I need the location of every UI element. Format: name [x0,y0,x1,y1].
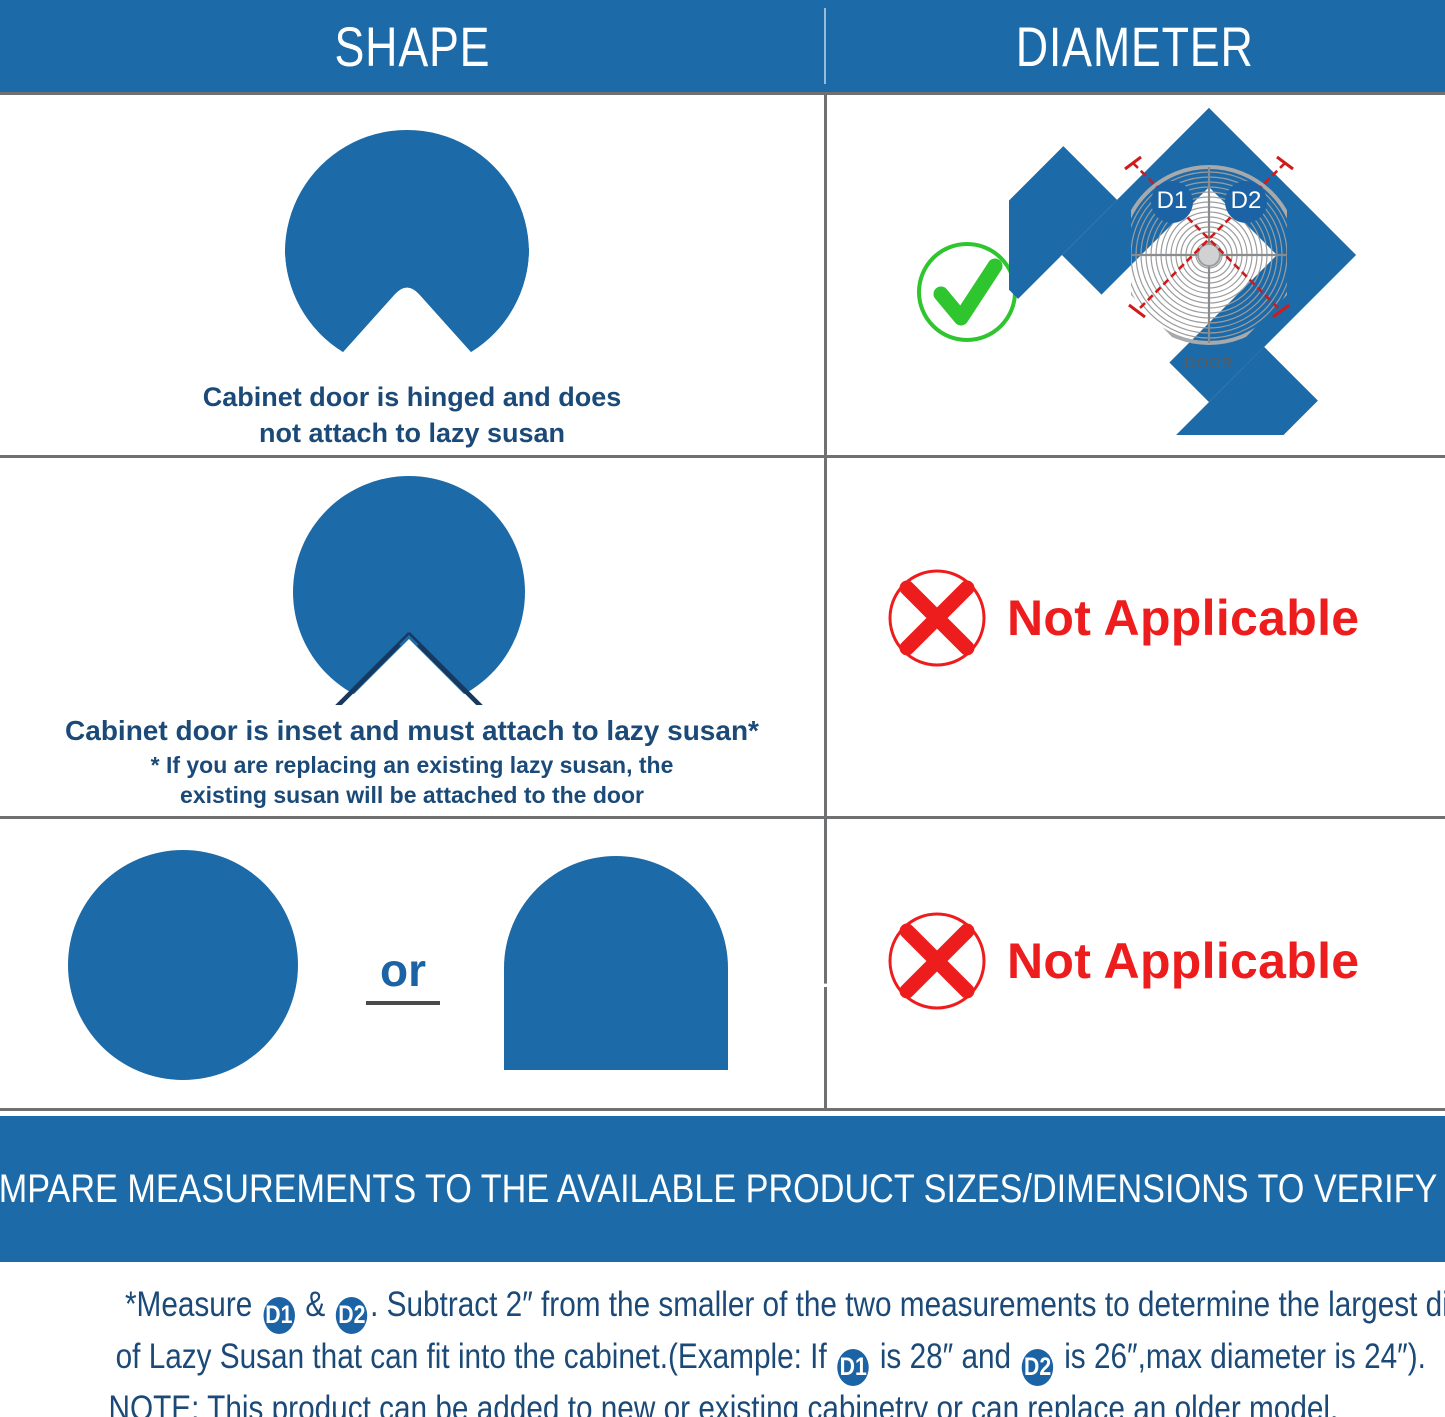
door-label: DOOR [1169,355,1249,372]
not-applicable-label: Not Applicable [1007,932,1359,990]
pie-cut-shape-label: PIE-CUT [528,548,766,598]
pie-cut-shape-figure: PIE-CUT [290,475,528,705]
compare-measurements-banner: COMPARE MEASUREMENTS TO THE AVAILABLE PR… [0,1116,1445,1262]
d-shaped-shape-figure: D-SHAPED [502,854,730,1072]
table-row: KIDNEY Cabinet door is hinged and does n… [0,95,1445,455]
header-cell-diameter: DIAMETER [825,0,1445,92]
footer-line2-b: is 28″ and [880,1337,1011,1376]
or-connector: or [348,947,458,1005]
table-row: FULL CIRCLE or D-SHAPED [0,819,1445,1108]
infographic-page: SHAPE DIAMETER KIDNEY Cabinet door is hi… [0,0,1445,1417]
row1-caption-line1: Cabinet door is hinged and does [0,380,824,415]
or-label: or [348,947,458,993]
footer-line-2: of Lazy Susan that can fit into the cabi… [0,1334,1445,1386]
footer-notes: *Measure D1 & D2. Subtract 2″ from the s… [0,1266,1445,1417]
row2-caption-line2: * If you are replacing an existing lazy … [0,751,824,780]
footer-note-label: NOTE: This product can be added to new o… [109,1386,1339,1417]
table-row: PIE-CUT Cabinet door is inset and must a… [0,458,1445,816]
footer-d1-badge-1: D1 [263,1297,294,1334]
row1-caption-line2: not attach to lazy susan [0,416,824,451]
header-column-divider [824,8,826,84]
x-mark-icon [885,566,989,670]
header-label-shape: SHAPE [335,14,491,79]
header-cell-shape: SHAPE [0,0,825,92]
x-mark-icon [885,909,989,1013]
grid-line-row3-bottom [0,1108,1445,1111]
or-underline [366,1001,440,1005]
corner-cabinet-diagram: D1 D2 DOOR [1009,105,1409,435]
row1-shape-cell: KIDNEY Cabinet door is hinged and does n… [0,95,824,455]
check-icon [915,240,1019,344]
d-shaped-shape-svg [502,854,730,1072]
footer-line2-a: of Lazy Susan that can fit into the cabi… [116,1337,827,1376]
footer-d2-badge-2: D2 [1022,1349,1053,1386]
kidney-shape-figure: KIDNEY [283,128,531,373]
footer-d2-badge-1: D2 [336,1297,367,1334]
footer-line2-c: is 26″,max diameter is 24″). [1064,1337,1426,1376]
footer-line1-a: *Measure [125,1285,252,1324]
pie-cut-shape-svg [290,475,528,705]
row3-diameter-cell: Not Applicable [827,819,1445,1108]
corner-cabinet-svg [1009,105,1409,435]
not-applicable-label: Not Applicable [1007,589,1359,647]
row2-caption-line1: Cabinet door is inset and must attach to… [0,713,824,749]
footer-line-1: *Measure D1 & D2. Subtract 2″ from the s… [0,1282,1445,1334]
row2-caption-line3: existing susan will be attached to the d… [0,781,824,810]
x-mark-icon-svg [885,909,989,1013]
footer-line-3: NOTE: This product can be added to new o… [0,1386,1445,1417]
full-circle-shape-figure: FULL CIRCLE [67,849,299,1081]
banner-label: COMPARE MEASUREMENTS TO THE AVAILABLE PR… [0,1167,1445,1212]
row3-shape-cell: FULL CIRCLE or D-SHAPED [0,819,824,1108]
not-applicable-block: Not Applicable [885,566,1359,670]
row2-shape-cell: PIE-CUT Cabinet door is inset and must a… [0,458,824,816]
kidney-shape-label: KIDNEY [531,206,779,256]
row1-diameter-cell: D1 D2 DOOR [827,95,1445,455]
footer-line1-c: . Subtract 2″ from the smaller of the tw… [370,1285,1445,1324]
x-mark-icon-svg [885,566,989,670]
row2-diameter-cell: Not Applicable [827,458,1445,816]
full-circle-shape-svg [67,849,299,1081]
d1-badge-label: D1 [1152,187,1192,215]
footer-d1-badge-2: D1 [838,1349,869,1386]
not-applicable-block: Not Applicable [885,909,1359,1013]
kidney-shape-svg [283,128,531,373]
d2-badge-label: D2 [1226,187,1266,215]
footer-line1-b: & [305,1285,325,1324]
header-label-diameter: DIAMETER [1016,14,1254,79]
check-icon-svg [915,240,1019,344]
table-header: SHAPE DIAMETER [0,0,1445,92]
